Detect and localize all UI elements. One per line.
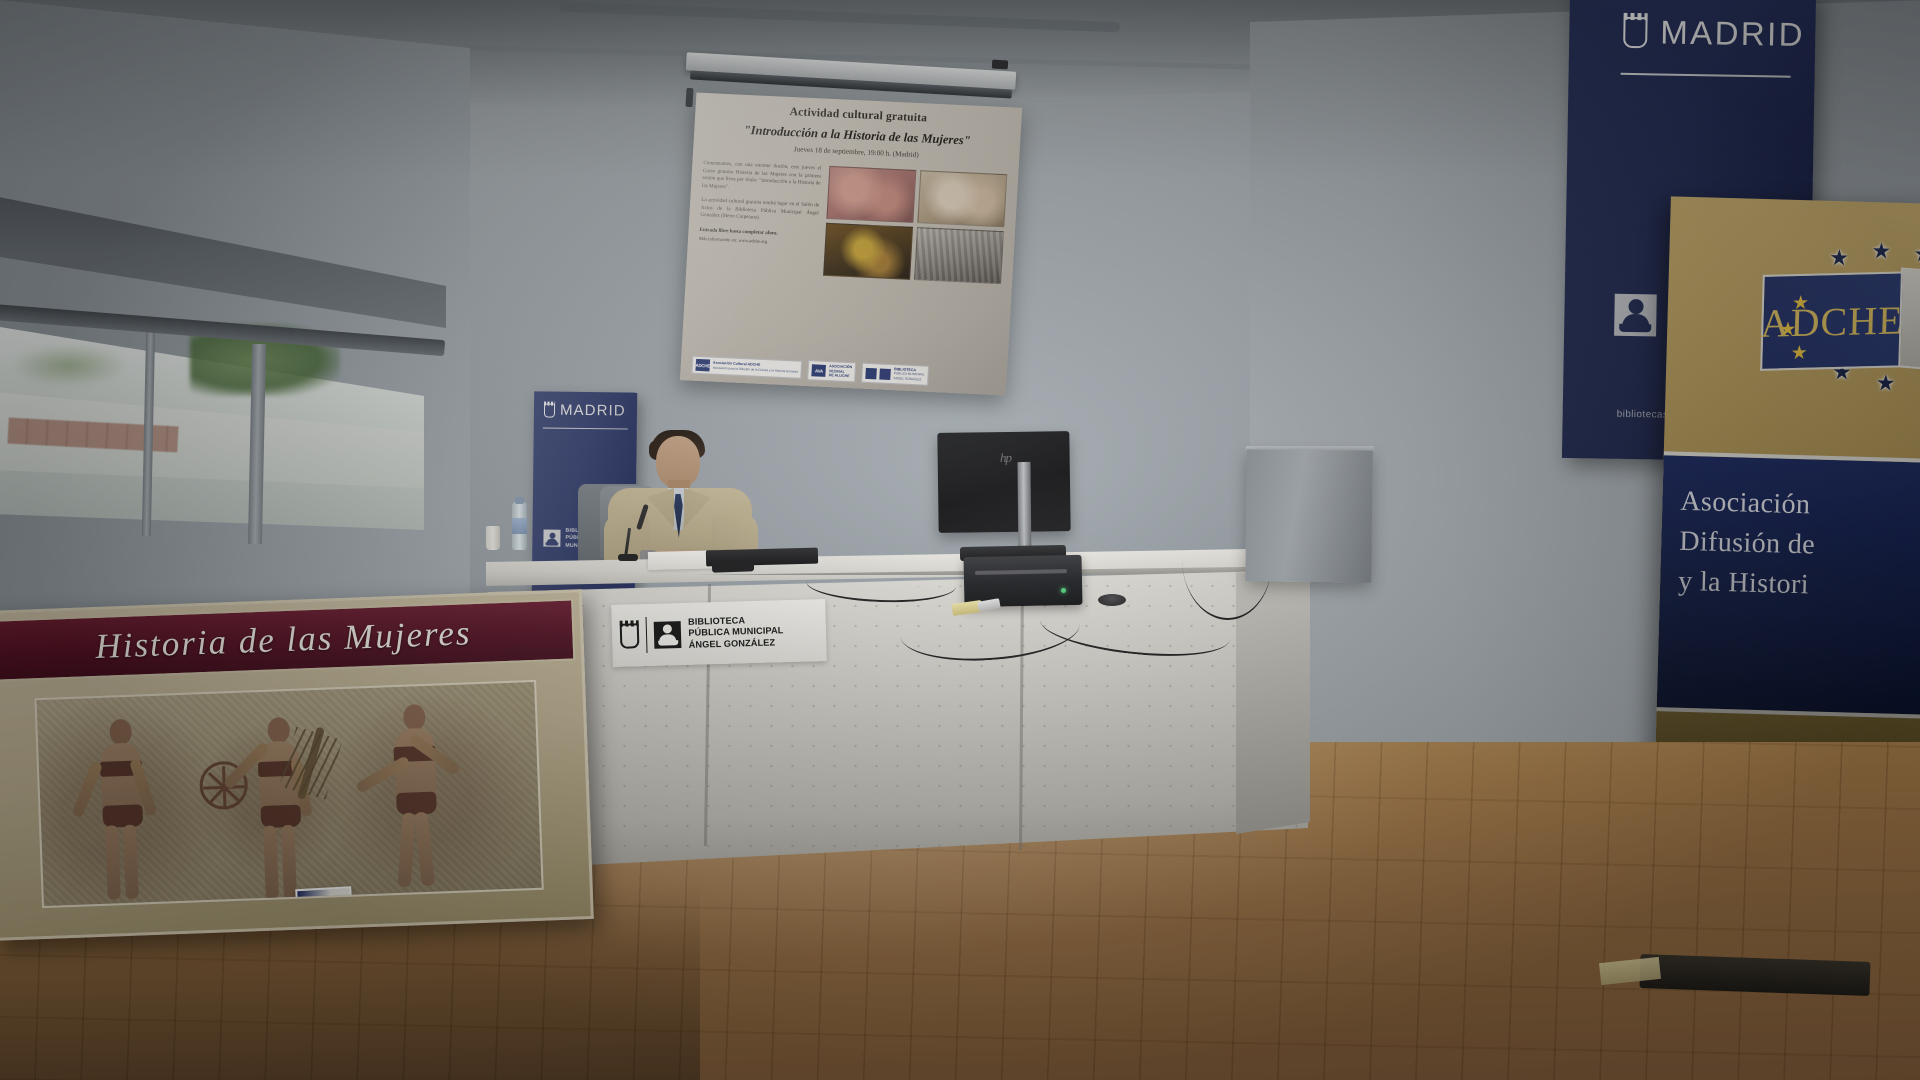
slide-image-grid xyxy=(823,166,1007,284)
screen-mount-bracket xyxy=(992,60,1008,70)
water-bottle-cap xyxy=(515,497,524,504)
slide-logo-ava: AVA ASOCIACIÓN VECINAL DE ALUCHE xyxy=(807,361,856,382)
slide-image-painting-scene xyxy=(823,223,913,280)
banner-mid-header: MADRID xyxy=(534,391,637,419)
conference-room-photo: Actividad cultural gratuita "Introducció… xyxy=(0,0,1920,1080)
adche-mark-icon: ADCHE xyxy=(695,359,710,372)
slide-image-suffragettes-photo xyxy=(914,227,1004,284)
madrid-coat-of-arms-icon xyxy=(620,623,640,649)
madrid-crest-icon xyxy=(1623,16,1648,47)
slide-image-fresco-women xyxy=(826,166,916,223)
adche-wordmark: ADCHE xyxy=(1760,296,1904,346)
mosaic-figure-1 xyxy=(91,718,158,908)
av-receiver-power-led xyxy=(1061,588,1066,593)
plaque-divider xyxy=(646,617,648,653)
monitor-brand-logo: hp xyxy=(1000,450,1011,466)
ava-mark-icon: AVA xyxy=(812,364,827,377)
adche-rollup-line3: y la Histori xyxy=(1678,561,1920,608)
library-reader-icon xyxy=(654,621,682,649)
projection-screen-hook xyxy=(685,88,693,107)
madrid-crest-icon xyxy=(544,403,555,417)
banner-topright-footer-word: bibliotecas xyxy=(1617,409,1669,421)
plaque-line1: BIBLIOTECA xyxy=(688,615,745,627)
keyboard-stand xyxy=(712,560,754,572)
plaque-line2: PÚBLICA MUNICIPAL xyxy=(688,625,783,638)
slide-text-column: Comenzamos, con una enorme ilusión, este… xyxy=(697,160,821,275)
mosaic-figure-3 xyxy=(385,703,454,901)
bikini-girls-mosaic-artwork: ADCHE xyxy=(34,680,543,908)
adche-rollup-textband: Asociación Difusión de y la Histori xyxy=(1657,451,1920,718)
banner-topright-rule xyxy=(1621,73,1791,78)
monitor-back-panel xyxy=(937,431,1070,533)
paper-cup xyxy=(486,526,500,550)
library-reader-icon xyxy=(1614,293,1657,336)
biblioteca-logo-text: BIBLIOTECA PÚBLICA MUNICIPAL ÁNGEL GONZÁ… xyxy=(893,367,924,382)
slide-logo-adche: ADCHE Asociación Cultural ADCHE Asociaci… xyxy=(691,356,802,379)
desk-plaque: BIBLIOTECA PÚBLICA MUNICIPAL ÁNGEL GONZÁ… xyxy=(611,599,827,667)
slide-paragraph-1: Comenzamos, con una enorme ilusión, este… xyxy=(702,160,822,196)
ava-logo-line3: DE ALUCHE xyxy=(829,373,850,378)
microphone-base xyxy=(618,554,638,561)
adche-badge-on-artwork: ADCHE xyxy=(295,886,353,908)
historia-mujeres-title: Historia de las Mujeres xyxy=(95,613,472,667)
library-reader-icon xyxy=(543,530,560,547)
desk-right-section xyxy=(1236,572,1310,862)
banner-topright-brand: MADRID xyxy=(1660,13,1805,54)
projection-screen: Actividad cultural gratuita "Introducció… xyxy=(680,93,1022,396)
adche-book-shape xyxy=(1898,267,1920,378)
water-bottle-label xyxy=(512,518,527,534)
mosaic-palm-frond xyxy=(297,726,325,799)
biblioteca-logo-line3: ÁNGEL GONZÁLEZ xyxy=(893,376,921,381)
plaque-text: BIBLIOTECA PÚBLICA MUNICIPAL ÁNGEL GONZÁ… xyxy=(688,614,784,651)
adche-flag-shape: ★ ★ ★ ADCHE xyxy=(1760,271,1913,371)
slide-body: Comenzamos, con una enorme ilusión, este… xyxy=(697,160,1007,284)
adche-star-ring: ★ ★ ★ ★ ★ ★ ★ xyxy=(1752,241,1920,398)
slide-paragraph-2: La actividad cultural gratuita tendrá lu… xyxy=(700,197,819,226)
banner-mid-brand: MADRID xyxy=(560,402,626,420)
adche-rollup-line1: Asociación xyxy=(1680,482,1920,529)
plaque-line3: ÁNGEL GONZÁLEZ xyxy=(689,637,776,649)
slide-image-ancient-statues xyxy=(917,170,1007,227)
historia-mujeres-title-bar: Historia de las Mujeres xyxy=(0,598,575,681)
adche-rollup-line2: Difusión de xyxy=(1679,522,1920,569)
historia-mujeres-rollup: Historia de las Mujeres xyxy=(0,589,594,941)
madrid-crest-icon xyxy=(866,367,878,378)
window xyxy=(0,196,446,526)
equipment-cabinet xyxy=(1245,449,1372,582)
window-foliage-secondary xyxy=(14,346,124,386)
adche-logo-line2: Asociación para la Difusión de la Cultur… xyxy=(713,365,798,373)
library-reader-icon xyxy=(880,368,892,379)
banner-topright-header: MADRID xyxy=(1569,0,1816,54)
ava-logo-text: ASOCIACIÓN VECINAL DE ALUCHE xyxy=(829,365,853,379)
adche-logo: ★ ★ ★ ★ ★ ★ ★ ★ ★ ★ ADCHE xyxy=(1752,241,1920,398)
slide-logo-biblioteca: BIBLIOTECA PÚBLICA MUNICIPAL ÁNGEL GONZÁ… xyxy=(861,363,929,386)
window-blind xyxy=(0,196,446,328)
adche-logo-text: Asociación Cultural ADCHE Asociación par… xyxy=(713,361,799,374)
